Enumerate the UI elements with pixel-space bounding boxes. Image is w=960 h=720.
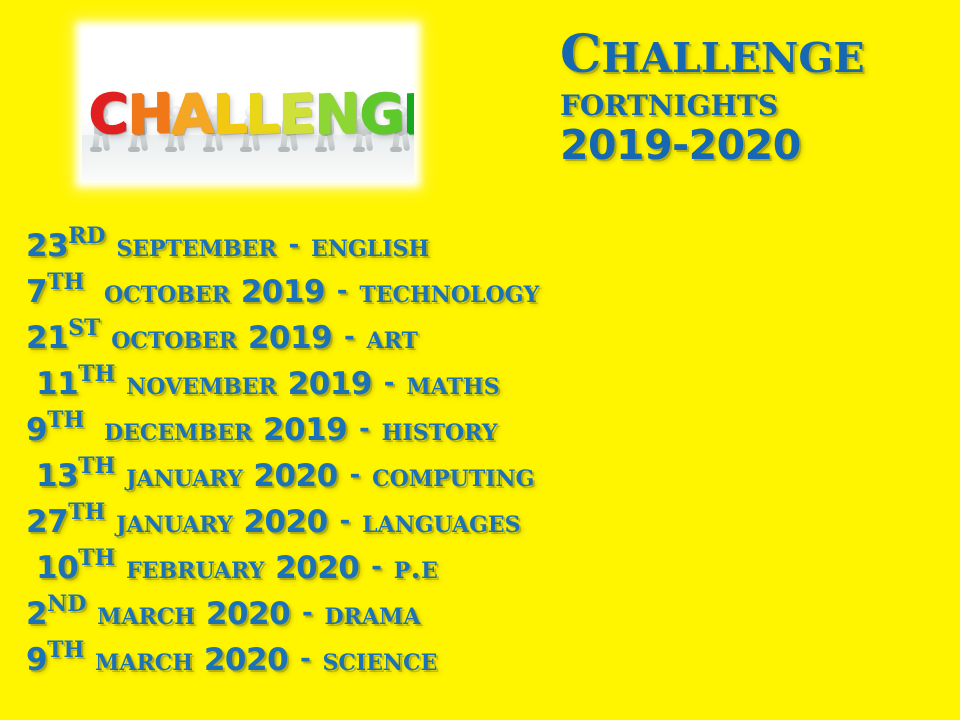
schedule-day: 9 <box>26 412 47 448</box>
schedule-separator: - <box>358 414 371 444</box>
schedule-year: 2019 <box>248 320 332 356</box>
schedule-day: 10 <box>36 550 78 586</box>
schedule-month: October <box>104 274 230 310</box>
title-block: Challenge Fortnights 2019-2020 <box>560 8 954 167</box>
slide-header: CHALLENGE Challenge Fortnights 2019-2020 <box>0 0 960 200</box>
schedule-separator: - <box>287 230 300 260</box>
schedule-item: 13th January 2020 - Computing <box>26 454 936 500</box>
photo-letter-h-1: H <box>127 92 171 136</box>
schedule-ordinal-suffix: th <box>78 353 115 389</box>
schedule-ordinal-suffix: nd <box>47 583 86 619</box>
schedule-ordinal-suffix: th <box>78 537 115 573</box>
schedule-year: 2020 <box>275 550 359 586</box>
schedule-item: 9th March 2020 - Science <box>26 638 936 684</box>
challenge-letters-photo: CHALLENGE <box>82 28 414 181</box>
photo-letters-group: CHALLENGE <box>88 58 414 136</box>
schedule-subject: P.E <box>394 550 438 586</box>
schedule-ordinal-suffix: th <box>78 445 115 481</box>
schedule-day: 9 <box>26 642 47 678</box>
schedule-item: 11th November 2019 - Maths <box>26 362 936 408</box>
schedule-item: 10th February 2020 - P.E <box>26 546 936 592</box>
schedule-subject: Science <box>323 642 438 678</box>
photo-letter-l-3: L <box>212 92 245 136</box>
schedule-subject: Computing <box>372 458 534 494</box>
schedule-year: 2020 <box>243 504 327 540</box>
schedule-separator: - <box>348 460 361 490</box>
schedule-item: 2nd March 2020 - Drama <box>26 592 936 638</box>
schedule-subject: Languages <box>362 504 520 540</box>
schedule-subject: Technology <box>359 274 539 310</box>
schedule-month: January <box>126 458 242 494</box>
schedule-month: March <box>95 642 193 678</box>
schedule-separator: - <box>336 276 349 306</box>
schedule-item: 27th January 2020 - Languages <box>26 500 936 546</box>
schedule-ordinal-suffix: th <box>47 399 84 435</box>
page-title: Challenge <box>560 8 954 85</box>
schedule-month: December <box>104 412 252 448</box>
schedule-subject: History <box>382 412 498 448</box>
photo-letter-g-7: G <box>359 92 402 136</box>
schedule-ordinal-suffix: th <box>47 261 84 297</box>
schedule-ordinal-suffix: st <box>68 307 100 343</box>
schedule-separator: - <box>299 644 312 674</box>
schedule-separator: - <box>370 552 383 582</box>
photo-letter-l-4: L <box>245 92 278 136</box>
photo-letter-e-8: E <box>402 92 414 136</box>
schedule-ordinal-suffix: th <box>68 491 105 527</box>
schedule-month: September <box>116 228 276 264</box>
schedule-month: February <box>126 550 264 586</box>
schedule-day: 21 <box>26 320 68 356</box>
schedule-year: 2020 <box>253 458 337 494</box>
schedule-month: October <box>111 320 237 356</box>
schedule-year: 2019 <box>288 366 372 402</box>
schedule-subject: Art <box>367 320 418 356</box>
schedule-month: January <box>116 504 232 540</box>
photo-letter-c-0: C <box>88 92 127 136</box>
photo-letter-n-6: N <box>314 92 358 136</box>
page-year-range: 2019-2020 <box>560 124 954 167</box>
schedule-ordinal-suffix: rd <box>68 215 105 251</box>
schedule-day: 2 <box>26 596 47 632</box>
schedule-day: 27 <box>26 504 68 540</box>
schedule-month: March <box>97 596 195 632</box>
schedule-day: 7 <box>26 274 47 310</box>
schedule-subject: English <box>311 228 429 264</box>
schedule-subject: Maths <box>406 366 499 402</box>
schedule-day: 13 <box>36 458 78 494</box>
schedule-list: 23rd September - English7th October 2019… <box>26 224 936 684</box>
schedule-year: 2020 <box>206 596 290 632</box>
schedule-year: 2019 <box>241 274 325 310</box>
schedule-year: 2019 <box>263 412 347 448</box>
schedule-separator: - <box>383 368 396 398</box>
schedule-ordinal-suffix: th <box>47 629 84 665</box>
schedule-day: 11 <box>36 366 78 402</box>
photo-letter-e-5: E <box>278 92 314 136</box>
schedule-separator: - <box>343 322 356 352</box>
schedule-separator: - <box>301 598 314 628</box>
schedule-subject: Drama <box>325 596 421 632</box>
schedule-item: 21st October 2019 - Art <box>26 316 936 362</box>
schedule-month: November <box>126 366 277 402</box>
photo-letter-a-2: A <box>171 92 212 136</box>
schedule-year: 2020 <box>204 642 288 678</box>
schedule-item: 7th October 2019 - Technology <box>26 270 936 316</box>
schedule-item: 23rd September - English <box>26 224 936 270</box>
page-subtitle: Fortnights <box>560 81 954 124</box>
schedule-item: 9th December 2019 - History <box>26 408 936 454</box>
schedule-separator: - <box>338 506 351 536</box>
schedule-day: 23 <box>26 228 68 264</box>
slide-canvas: CHALLENGE Challenge Fortnights 2019-2020… <box>0 0 960 720</box>
